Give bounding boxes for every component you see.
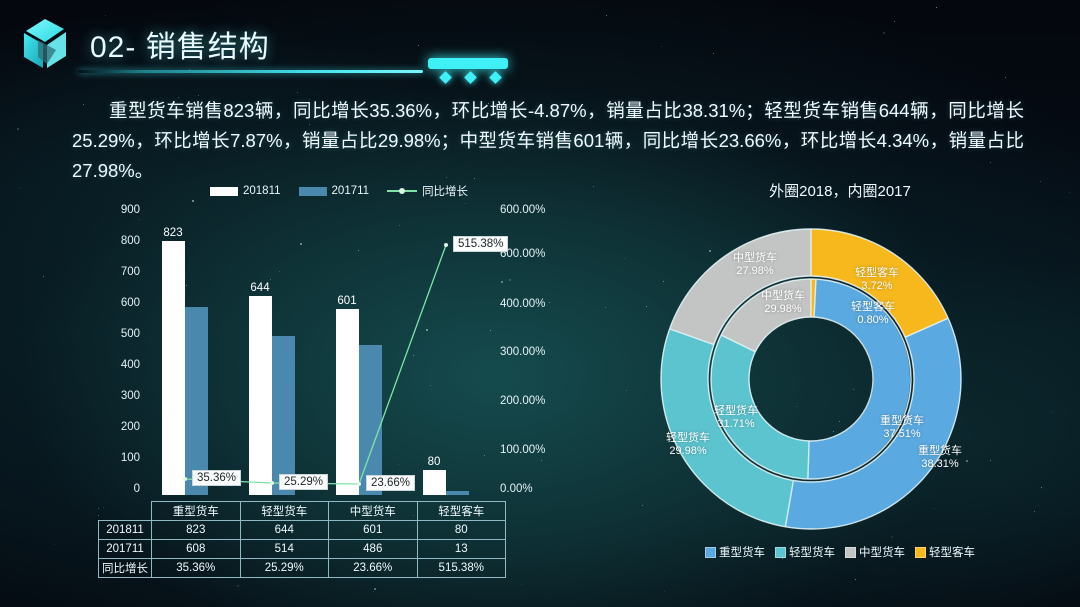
y-tick-200: 200 [121,421,140,433]
donut-legend-label-heavy-truck: 重型货车 [719,544,765,560]
growth-callout-light-bus: 515.38% [453,236,508,252]
legend-line-growth [387,190,417,192]
legend-item-201711: 201711 [299,185,370,197]
bar-chart-legend: 201811 201711 同比增长 [210,183,478,199]
y2-tick-200: 200.00% [500,395,545,407]
cell-201711-bus: 13 [417,540,506,559]
y-tick-300: 300 [121,390,140,402]
bar-chart-y-axis-right: 600.00% 600.00% 400.00% 300.00% 200.00% … [496,211,566,489]
data-table: 重型货车 轻型货车 中型货车 轻型客车 201811 823 644 601 8… [98,501,506,578]
donut-rings [646,218,976,540]
inner-label-light-bus: 轻型客车0.80% [851,301,895,327]
donut-legend-swatch-heavy-truck [705,547,716,558]
header-accent-diamond-3 [489,71,502,84]
cell-growth-bus: 515.38% [417,559,506,578]
growth-line-series [146,217,492,495]
bar-chart: 201811 201711 同比增长 900 800 700 600 500 4… [98,183,568,573]
cell-growth-medium: 23.66% [329,559,418,578]
legend-label-201711: 201711 [332,185,370,197]
growth-callout-light-truck: 25.29% [279,474,328,490]
cell-201711-light: 514 [240,540,329,559]
bar-chart-y-axis-left: 900 800 700 600 500 400 300 200 100 0 [98,211,144,489]
table-col-heavy-truck: 重型货车 [152,502,241,521]
legend-swatch-201711 [299,187,327,196]
legend-label-201811: 201811 [243,185,281,197]
cell-201811-bus: 80 [417,521,506,540]
table-rowlabel-201711: 201711 [99,540,152,559]
legend-swatch-201811 [210,187,238,196]
summary-paragraph: 重型货车销售823辆，同比增长35.36%，环比增长-4.87%，销量占比38.… [72,96,1024,186]
y-tick-0: 0 [134,483,140,495]
growth-callout-medium-truck: 23.66% [366,475,415,491]
donut-legend-label-light-truck: 轻型货车 [789,544,835,560]
inner-label-heavy-truck: 重型货车37.51% [880,415,924,441]
donut-legend-label-light-bus: 轻型客车 [929,544,975,560]
donut-chart: 外圈2018，内圈2017 [620,180,1060,580]
donut-legend: 重型货车 轻型货车 中型货车 轻型客车 [620,544,1060,560]
donut-legend-item-light-bus: 轻型客车 [915,544,975,560]
y2-tick-100: 100.00% [500,444,545,456]
cell-growth-light: 25.29% [240,559,329,578]
cell-growth-heavy: 35.36% [152,559,241,578]
cell-201811-heavy: 823 [152,521,241,540]
table-col-light-truck: 轻型货车 [240,502,329,521]
y-tick-600: 600 [121,297,140,309]
table-row: 同比增长 35.36% 25.29% 23.66% 515.38% [99,559,506,578]
cell-201811-light: 644 [240,521,329,540]
y-tick-800: 800 [121,235,140,247]
donut-legend-item-light-truck: 轻型货车 [775,544,835,560]
donut-chart-title: 外圈2018，内圈2017 [620,180,1060,201]
y2-tick-0: 0.00% [500,483,533,495]
diamond-logo-icon [14,16,76,78]
title-underline [78,70,423,73]
y2-tick-400: 400.00% [500,298,545,310]
inner-label-light-truck: 轻型货车31.71% [714,405,758,431]
cell-201711-medium: 486 [329,540,418,559]
y-tick-500: 500 [121,328,140,340]
y-tick-400: 400 [121,359,140,371]
donut-legend-swatch-medium-truck [845,547,856,558]
inner-label-medium-truck: 中型货车29.98% [761,290,805,316]
legend-item-201811: 201811 [210,185,281,197]
header-accent-diamond-2 [464,71,477,84]
y2-tick-600-top: 600.00% [500,204,545,216]
donut-legend-item-medium-truck: 中型货车 [845,544,905,560]
table-row: 201711 608 514 486 13 [99,540,506,559]
outer-label-light-truck: 轻型货车29.98% [666,432,710,458]
table-rowlabel-growth: 同比增长 [99,559,152,578]
table-rowlabel-201811: 201811 [99,521,152,540]
header-accent-diamond-1 [439,71,452,84]
cell-201711-heavy: 608 [152,540,241,559]
y-tick-700: 700 [121,266,140,278]
y-tick-900: 900 [121,204,140,216]
table-col-light-bus: 轻型客车 [417,502,506,521]
donut-legend-label-medium-truck: 中型货车 [859,544,905,560]
table-header-row: 重型货车 轻型货车 中型货车 轻型客车 [99,502,506,521]
cell-201811-medium: 601 [329,521,418,540]
donut-legend-item-heavy-truck: 重型货车 [705,544,765,560]
table-corner-cell [99,502,152,521]
header-accent-bar [428,58,508,69]
table-col-medium-truck: 中型货车 [329,502,418,521]
donut-legend-swatch-light-truck [775,547,786,558]
legend-item-growth: 同比增长 [387,183,468,199]
outer-label-heavy-truck: 重型货车38.31% [918,445,962,471]
outer-label-light-bus: 轻型客车3.72% [855,267,899,293]
growth-callout-heavy-truck: 35.36% [192,470,241,486]
slide-root: 02- 销售结构 重型货车销售823辆，同比增长35.36%，环比增长-4.87… [0,0,1080,607]
table-row: 201811 823 644 601 80 [99,521,506,540]
outer-label-medium-truck: 中型货车27.98% [733,252,777,278]
y-tick-100: 100 [121,452,140,464]
y2-tick-300: 300.00% [500,346,545,358]
page-title: 02- 销售结构 [90,22,270,66]
bar-chart-plot-area: 823 644 601 80 35.36% 25.29% 2 [146,217,492,495]
legend-label-growth: 同比增长 [422,183,468,199]
donut-legend-swatch-light-bus [915,547,926,558]
